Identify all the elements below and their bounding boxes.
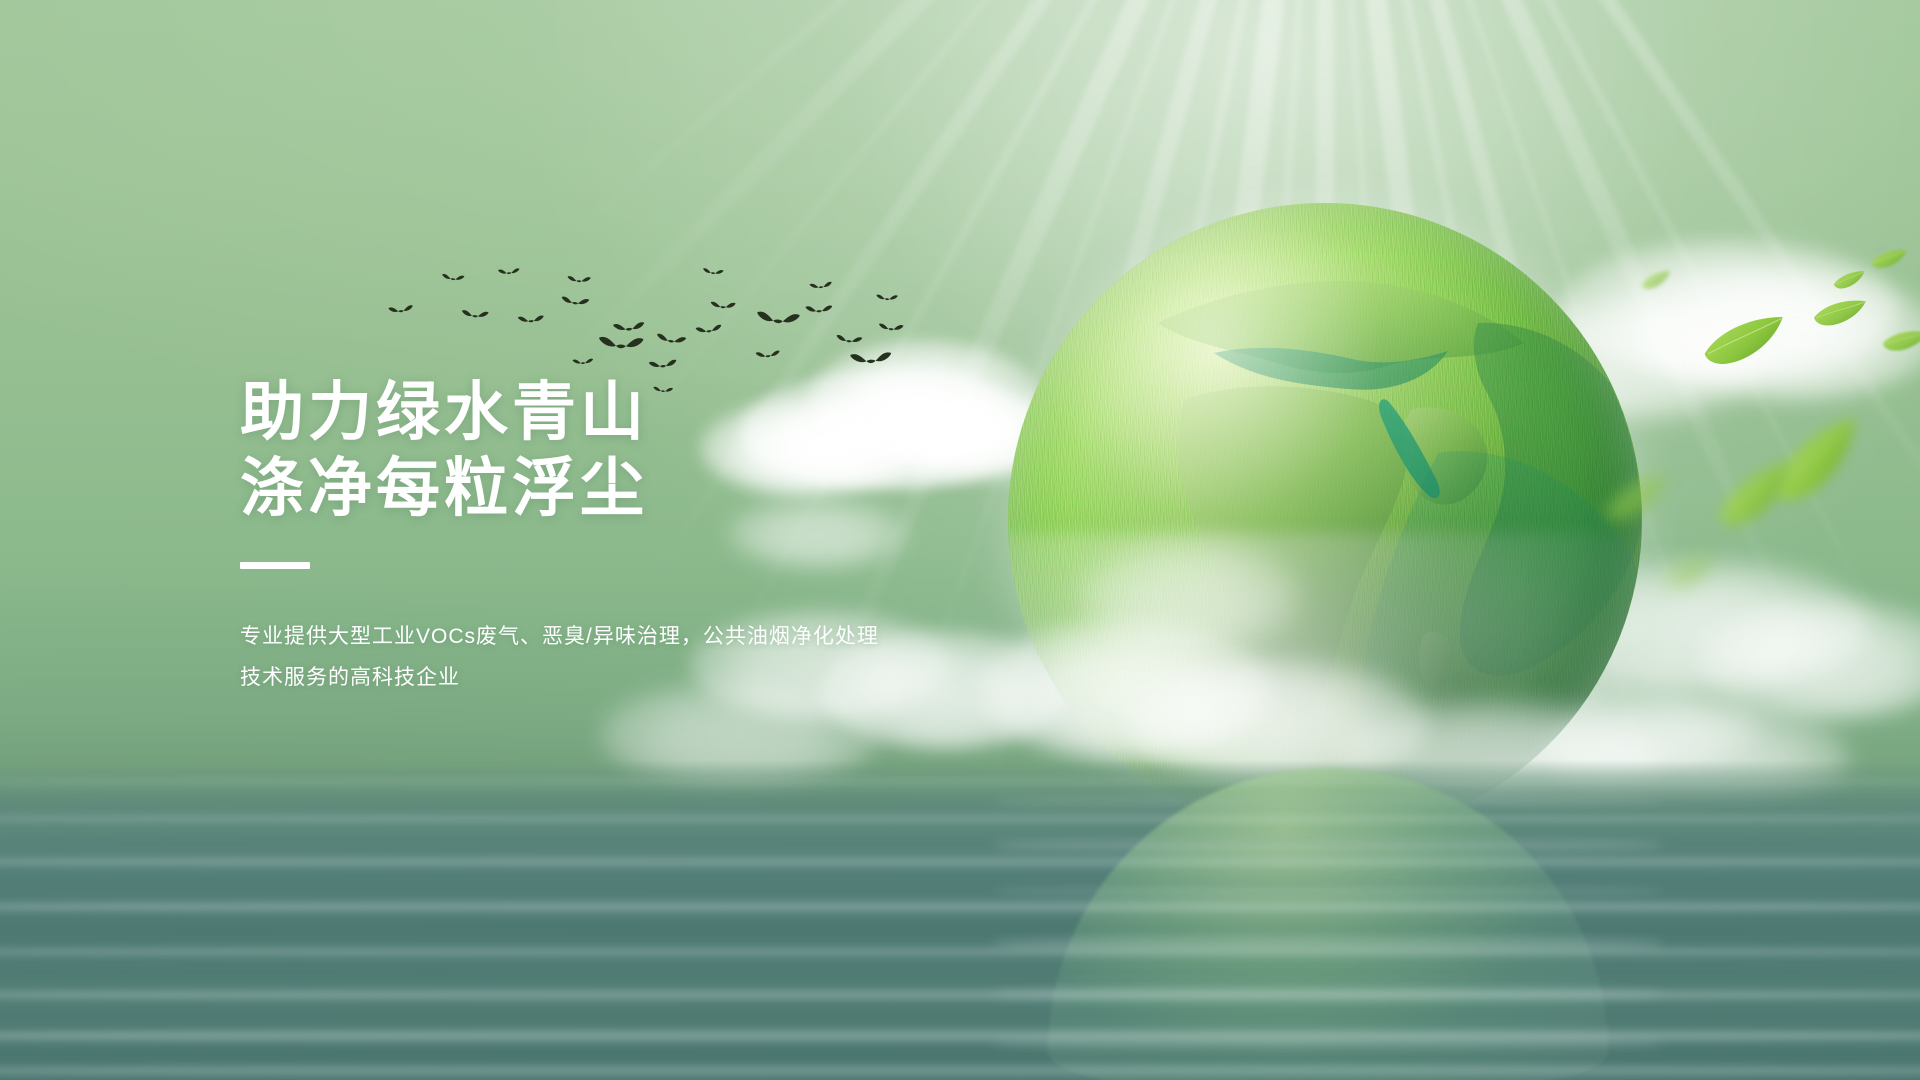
water-ripple — [0, 838, 1920, 845]
bird-icon — [498, 267, 521, 279]
bird-icon — [441, 273, 465, 286]
globe-rim-light — [1008, 203, 1642, 837]
bird-icon — [878, 322, 904, 336]
globe-sphere — [1008, 203, 1642, 837]
bird-icon — [461, 308, 489, 323]
leaf-icon — [1877, 325, 1920, 356]
bird-icon — [655, 332, 687, 351]
bird-icon — [572, 357, 594, 368]
bird-icon — [695, 323, 723, 339]
bird-icon — [755, 309, 801, 333]
eco-hero-banner: 助力绿水青山 涤净每粒浮尘 专业提供大型工业VOCs废气、恶臭/异味治理，公共油… — [0, 0, 1920, 1080]
headline-divider — [240, 562, 310, 569]
water-ripple — [0, 778, 1920, 786]
bird-icon — [702, 267, 724, 279]
leaf-icon — [1659, 547, 1723, 598]
bird-icon — [755, 349, 781, 363]
leaf-icon — [1754, 399, 1884, 522]
bird-icon — [567, 275, 591, 288]
water-ripple — [0, 1028, 1920, 1044]
leaf-icon — [1638, 266, 1676, 294]
bird-icon — [598, 334, 645, 358]
water-ripple — [0, 900, 1920, 914]
water-ripple — [0, 968, 1920, 976]
water-ripple — [0, 1010, 1920, 1019]
bird-icon — [835, 333, 863, 348]
hero-text-block: 助力绿水青山 涤净每粒浮尘 专业提供大型工业VOCs废气、恶臭/异味治理，公共油… — [240, 375, 940, 699]
hero-subtitle: 专业提供大型工业VOCs废气、恶臭/异味治理，公共油烟净化处理技术服务的高科技企… — [240, 617, 900, 699]
bird-icon — [517, 314, 544, 328]
water-ripple — [0, 798, 1920, 804]
bird-icon — [849, 350, 892, 372]
leaf-icon — [1868, 245, 1911, 273]
bird-icon — [648, 358, 678, 374]
bird-icon — [876, 293, 898, 304]
leaf-icon — [1704, 447, 1811, 544]
bird-icon — [612, 320, 645, 338]
water-ripple — [0, 856, 1920, 868]
bird-icon — [805, 304, 833, 318]
bird-icon — [560, 295, 590, 312]
leaf-icon — [1830, 266, 1869, 293]
bird-icon — [809, 280, 833, 293]
water-surface — [0, 760, 1920, 1080]
water-ripple — [0, 1064, 1920, 1078]
water-ripple — [0, 880, 1920, 888]
bird-icon — [388, 304, 414, 319]
grass-earth-globe — [1008, 203, 1642, 837]
water-ripple — [0, 946, 1920, 958]
leaf-icon — [1808, 293, 1874, 333]
headline-line-2: 涤净每粒浮尘 — [240, 451, 940, 527]
water-ripple — [0, 924, 1920, 933]
headline-line-1: 助力绿水青山 — [240, 375, 940, 451]
cloud-shape — [1700, 600, 1920, 720]
water-ripple — [0, 1050, 1920, 1060]
bird-icon — [710, 300, 736, 314]
cloud-shape — [1640, 270, 1920, 400]
leaf-icon — [1695, 304, 1796, 377]
water-ripple — [0, 988, 1920, 1002]
water-ripple — [0, 814, 1920, 824]
